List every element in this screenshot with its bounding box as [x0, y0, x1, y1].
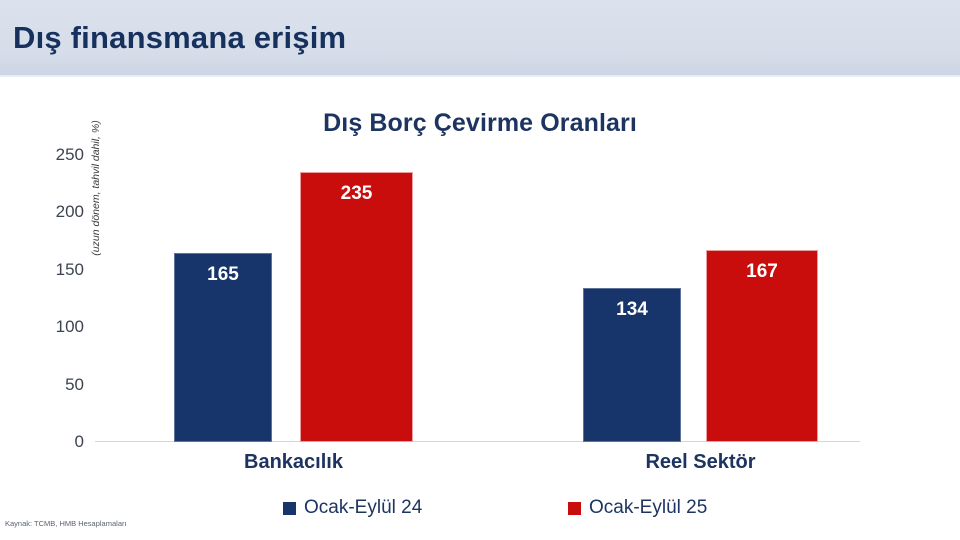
legend-label: Ocak-Eylül 25: [589, 497, 707, 519]
bar-bankacilik-ocak-eylul-24[interactable]: 165: [174, 253, 272, 442]
category-label-bankacilik: Bankacılık: [174, 451, 413, 474]
bar-value-label: 165: [175, 264, 271, 286]
y-axis-label: (uzun dönem, tahvil dahil, %): [90, 93, 102, 283]
bar-reel-sektor-ocak-eylul-24[interactable]: 134: [583, 288, 681, 442]
legend-swatch-icon: [283, 502, 296, 515]
bar-value-label: 167: [707, 261, 817, 283]
page-title: Dış finansmana erişim: [13, 20, 346, 56]
legend-item-ocak-eylul-25[interactable]: Ocak-Eylül 25: [568, 497, 707, 519]
category-label-reel-sektor: Reel Sektör: [583, 451, 818, 474]
bar-bankacilik-ocak-eylul-25[interactable]: 235: [300, 172, 413, 442]
legend-item-ocak-eylul-24[interactable]: Ocak-Eylül 24: [283, 497, 422, 519]
bar-reel-sektor-ocak-eylul-25[interactable]: 167: [706, 250, 818, 442]
plot-area: (uzun dönem, tahvil dahil, %) 0 50 100 1…: [95, 155, 860, 442]
chart-legend: Ocak-Eylül 24 Ocak-Eylül 25: [0, 497, 960, 523]
bar-value-label: 235: [301, 183, 412, 205]
slide-header-band: Dış finansmana erişim: [0, 0, 960, 77]
source-note: Kaynak: TCMB, HMB Hesaplamaları: [5, 519, 127, 528]
chart-figure: Dış Borç Çevirme Oranları (uzun dönem, t…: [0, 77, 960, 540]
legend-label: Ocak-Eylül 24: [304, 497, 422, 519]
chart-title: Dış Borç Çevirme Oranları: [0, 109, 960, 138]
bar-value-label: 134: [584, 299, 680, 321]
legend-swatch-icon: [568, 502, 581, 515]
